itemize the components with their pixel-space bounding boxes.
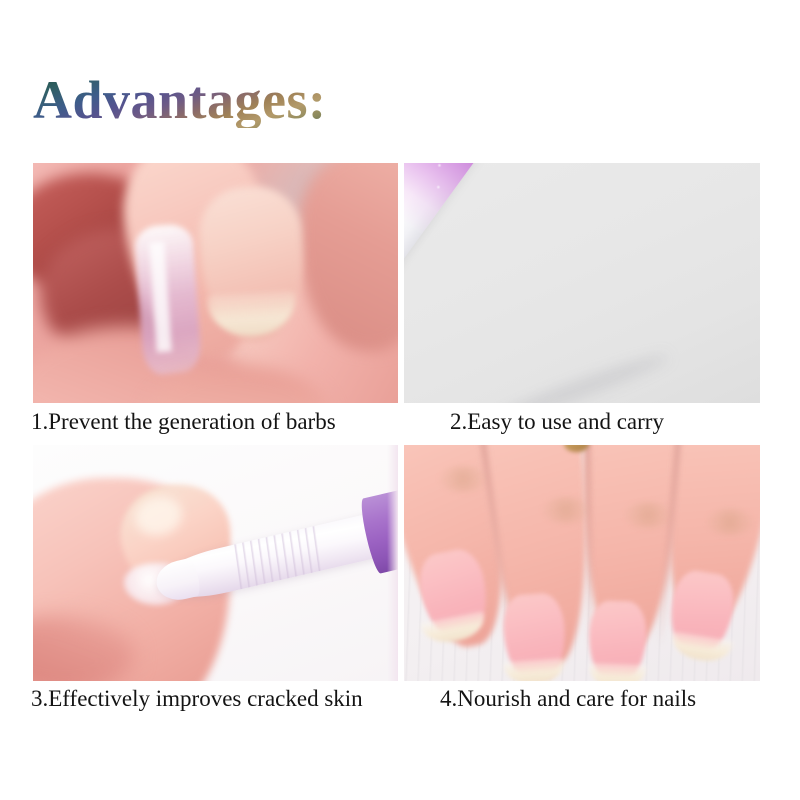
advantage-image-4 [404, 445, 760, 681]
knuckle-shading [440, 466, 486, 492]
advantage-caption-2: 2.Easy to use and carry [450, 409, 664, 435]
knuckle-shading [707, 509, 753, 535]
photo-background [404, 163, 760, 403]
advantage-image-3 [33, 445, 398, 681]
applicator-shape [134, 224, 203, 377]
photo-edge-fade [387, 445, 398, 681]
knuckle-shading [543, 497, 589, 523]
advantages-infographic: { "page": { "title": "Advantages:", "bac… [0, 0, 800, 800]
page-title-wrap: Advantages: [33, 72, 533, 132]
photo-applying-pen [33, 445, 398, 681]
photo-healthy-nails [404, 445, 760, 681]
fingernail-tip [589, 663, 647, 681]
knuckle-shading [625, 502, 671, 528]
photo-nail-closeup [33, 163, 398, 403]
photo-product-pen: cuticles and nail from one drop to each … [404, 163, 760, 403]
advantage-caption-1: 1.Prevent the generation of barbs [31, 409, 336, 435]
advantage-caption-4: 4.Nourish and care for nails [440, 686, 696, 712]
advantage-image-1 [33, 163, 398, 403]
page-title: Advantages: [33, 72, 327, 128]
advantage-caption-3: 3.Effectively improves cracked skin [31, 686, 363, 712]
advantage-image-2: cuticles and nail from one drop to each … [404, 163, 760, 403]
